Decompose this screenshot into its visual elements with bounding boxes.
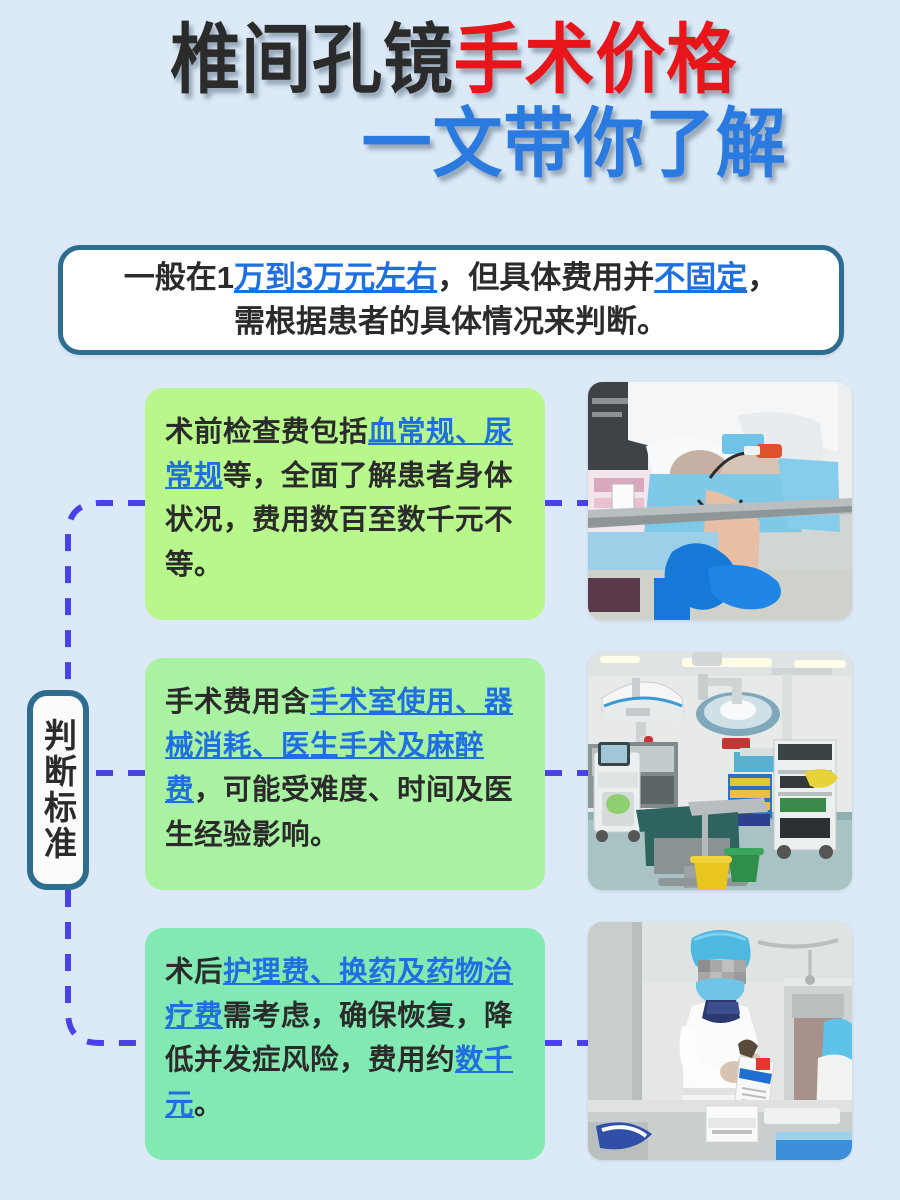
card2-seg-2: ，可能受难度、时间及医生经验影响。 [165,774,513,850]
title-part-red: 手术价格 [454,18,737,103]
criteria-label-box: 判断标准 [27,690,89,890]
summary-segment-1: 一般在1 [124,260,234,295]
title-part-blue: 一文带你了解 [362,102,787,187]
criteria-label-text: 判断标准 [42,718,75,862]
summary-highlight-not-fixed: 不固定 [654,260,747,295]
nurse-medication-photo [588,922,852,1160]
card3-seg-0: 术后 [165,956,223,988]
connector-branch-top [68,503,145,690]
summary-segment-3: ， [747,260,778,295]
summary-segment-2: ，但具体费用并 [437,260,654,295]
page-title: 椎间孔镜手术价格 一文带你了解 [0,22,900,183]
card-postop-care: 术后护理费、换药及药物治疗费需考虑，确保恢复，降低并发症风险，费用约数千元。 [145,928,545,1160]
blood-draw-photo [588,382,852,620]
card1-seg-0: 术前检查费包括 [165,416,368,448]
summary-highlight-price-range: 万到3万元左右 [234,260,437,295]
title-part-black: 椎间孔镜 [170,18,453,103]
summary-callout-box: 一般在1万到3万元左右，但具体费用并不固定， 需根据患者的具体情况来判断。 [58,245,844,355]
nurse-medication-illustration [588,922,852,1160]
summary-line-2: 需根据患者的具体情况来判断。 [234,304,668,339]
operating-room-illustration [588,652,852,890]
card2-seg-0: 手术费用含 [165,686,310,718]
card-surgery-fee: 手术费用含手术室使用、器械消耗、医生手术及麻醉费，可能受难度、时间及医生经验影响… [145,658,545,890]
blood-draw-illustration [588,382,852,620]
connector-branch-bottom [68,890,145,1043]
summary-text: 一般在1万到3万元左右，但具体费用并不固定， 需根据患者的具体情况来判断。 [110,256,793,344]
card-postop-care-text: 术后护理费、换药及药物治疗费需考虑，确保恢复，降低并发症风险，费用约数千元。 [165,950,525,1127]
card-preop-exam-text: 术前检查费包括血常规、尿常规等，全面了解患者身体状况，费用数百至数千元不等。 [165,410,525,587]
card-surgery-fee-text: 手术费用含手术室使用、器械消耗、医生手术及麻醉费，可能受难度、时间及医生经验影响… [165,680,525,857]
card-preop-exam: 术前检查费包括血常规、尿常规等，全面了解患者身体状况，费用数百至数千元不等。 [145,388,545,620]
card3-seg-4: 。 [194,1089,223,1121]
operating-room-photo [588,652,852,890]
